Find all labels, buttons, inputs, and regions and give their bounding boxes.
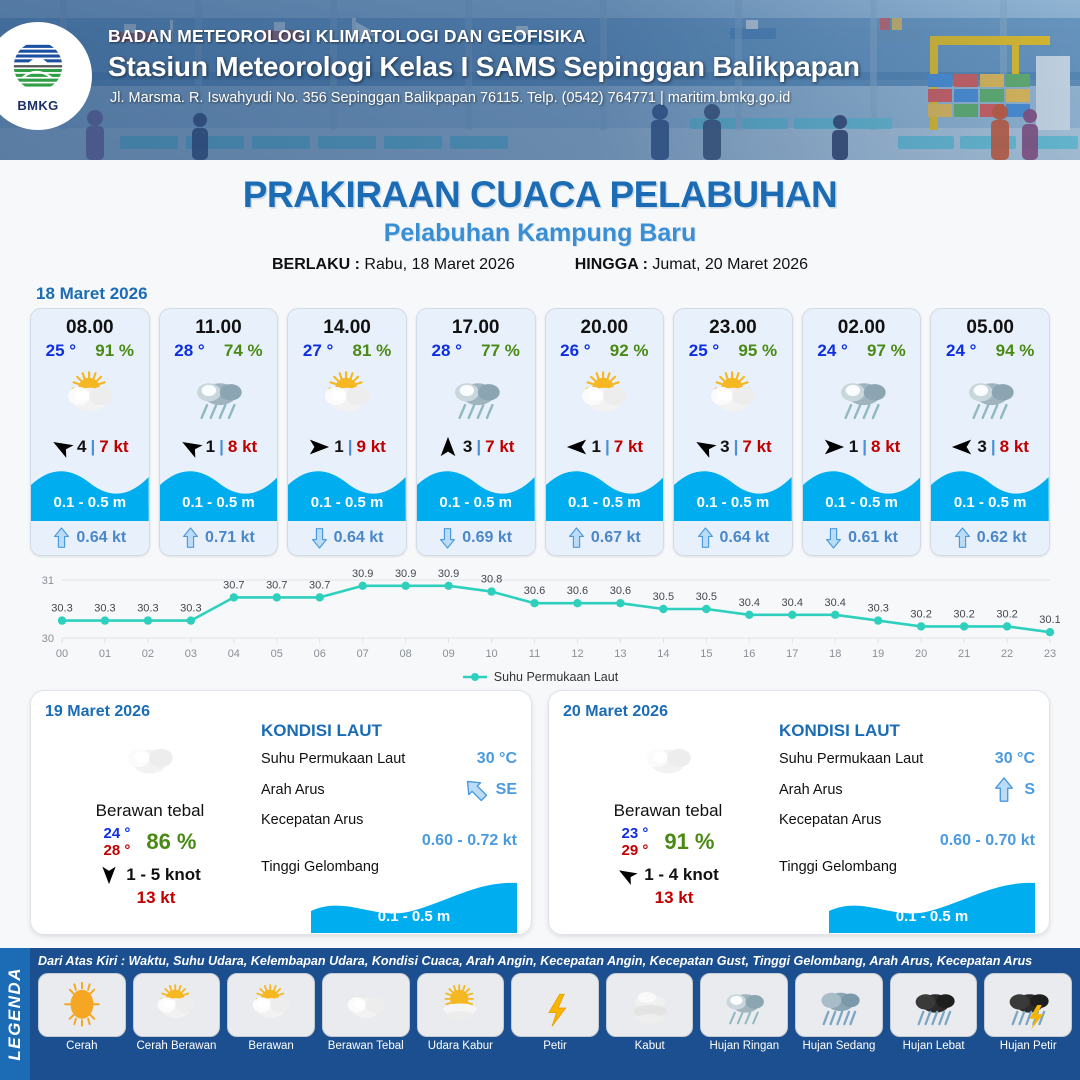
card-wind-speed: 1 [206,437,215,457]
card-temp-hum: 28 °77 % [417,341,535,361]
svg-text:14: 14 [657,648,669,660]
current-dir-value: SE [496,781,517,799]
current-direction-arrow-icon [311,527,328,549]
card-temperature: 26 ° [560,341,590,361]
sea-row-sst: Suhu Permukaan Laut30 °C [779,750,1035,768]
legend-hujan-sedang-icon [795,973,883,1037]
sea-row-wave: Tinggi Gelombang [261,859,517,875]
daily-temp-min: 24 ° [103,825,130,842]
daily-left: 20 Maret 2026Berawan tebal23 °29 °91 %1 … [563,703,773,922]
svg-text:18: 18 [829,648,841,660]
legend-item: Udara Kabur [417,973,505,1052]
card-gust-speed: 7 kt [485,437,514,457]
legend-item-label: Berawan [248,1040,293,1052]
svg-text:30.4: 30.4 [782,597,803,609]
sea-row-current-dir: Arah ArusSE [261,777,517,803]
hingga-value: Jumat, 20 Maret 2026 [652,256,808,273]
legend-item-label: Hujan Lebat [903,1040,965,1052]
card-weather-cerah-berawan-icon [288,363,406,429]
card-wind-speed: 3 [977,437,986,457]
card-current-row: 0.64 kt [31,521,149,555]
wave-label: Tinggi Gelombang [261,859,379,875]
card-temp-hum: 25 °91 % [31,341,149,361]
card-weather-hujan-ringan-icon [931,363,1049,429]
sst-label: Suhu Permukaan Laut [779,751,923,767]
daily-forecast-panels: 19 Maret 2026Berawan tebal24 °28 °86 %1 … [0,684,1080,935]
card-wave-height: 0.1 - 0.5 m [931,494,1049,511]
daily-wind-range: 1 - 4 knot [644,865,719,885]
card-wind-row: 1|9 kt [288,431,406,463]
svg-text:30.9: 30.9 [438,568,459,580]
svg-text:05: 05 [271,648,283,660]
card-wind-row: 3|8 kt [931,431,1049,463]
daily-gust: 13 kt [57,888,255,908]
daily-temp-range: 24 °28 ° [103,825,130,859]
card-wind-speed: 3 [463,437,472,457]
svg-text:30.2: 30.2 [953,608,974,620]
svg-text:12: 12 [571,648,583,660]
card-gust-speed: 8 kt [871,437,900,457]
sea-row-current-dir: Arah ArusS [779,777,1035,803]
card-temperature: 25 ° [689,341,719,361]
legend-hujan-ringan-icon [700,973,788,1037]
current-direction-arrow-icon [825,527,842,549]
card-time: 05.00 [931,317,1049,339]
card-temperature: 24 ° [946,341,976,361]
card-gust-speed: 7 kt [99,437,128,457]
card-humidity: 91 % [95,341,134,361]
card-weather-berawan-icon [674,363,792,429]
legend-bar: LEGENDA Dari Atas Kiri : Waktu, Suhu Uda… [0,948,1080,1080]
legend-udara-kabur-icon [417,973,505,1037]
sea-row-current-speed: Kecepatan Arus [261,812,517,828]
bmkg-logo-mark [9,39,67,97]
card-wind-row: 4|7 kt [31,431,149,463]
daily-wave-height: 0.1 - 0.5 m [829,908,1035,925]
card-humidity: 92 % [610,341,649,361]
svg-text:21: 21 [958,648,970,660]
legend-item: Berawan [227,973,315,1052]
card-temperature: 24 ° [817,341,847,361]
current-speed-value: 0.60 - 0.72 kt [261,832,517,850]
card-wind-row: 3|7 kt [417,431,535,463]
card-temp-hum: 24 °97 % [803,341,921,361]
station-name: Stasiun Meteorologi Kelas I SAMS Sepingg… [108,51,860,83]
wind-direction-arrow-icon [308,436,330,458]
legend-item-label: Kabut [635,1040,665,1052]
card-current-row: 0.61 kt [803,521,921,555]
card-wave-block: 0.1 - 0.5 m [417,463,535,521]
svg-text:30.9: 30.9 [395,568,416,580]
wind-direction-arrow-icon [99,865,119,885]
daily-date: 20 Maret 2026 [563,703,773,721]
hourly-card: 11.0028 °74 %1|8 kt0.1 - 0.5 m0.71 kt [159,308,279,556]
svg-text:30.5: 30.5 [653,591,674,603]
legend-item-label: Petir [543,1040,567,1052]
card-temperature: 28 ° [431,341,461,361]
card-humidity: 77 % [481,341,520,361]
svg-text:04: 04 [228,648,240,660]
card-time: 20.00 [546,317,664,339]
daily-temp-max: 29 ° [621,842,648,859]
sst-value: 30 °C [477,750,517,768]
wind-direction-arrow-icon [617,865,637,885]
card-time: 02.00 [803,317,921,339]
legend-cerah-berawan-icon [133,973,221,1037]
daily-condition-text: Berawan tebal [45,801,255,821]
legend-berawan-icon [227,973,315,1037]
card-weather-berawan-icon [31,363,149,429]
chart-legend-swatch [462,671,488,683]
current-direction-arrow-icon [954,527,971,549]
hourly-forecast-cards: 08.0025 °91 %4|7 kt0.1 - 0.5 m0.64 kt11.… [0,308,1080,556]
svg-text:23: 23 [1044,648,1056,660]
current-direction-arrow-icon [439,527,456,549]
chart-legend: Suhu Permukaan Laut [0,670,1080,684]
sst-chart: 3031000102030405060708091011121314151617… [20,568,1060,668]
card-gust-speed: 8 kt [228,437,257,457]
daily-wave-block: 0.1 - 0.5 m [311,881,517,933]
current-direction-arrow-icon [465,777,491,803]
chart-legend-label: Suhu Permukaan Laut [494,670,618,684]
card-current-speed: 0.71 kt [205,529,255,547]
legend-tab: LEGENDA [0,948,30,1080]
card-wind-row: 1|8 kt [160,431,278,463]
card-temp-hum: 25 °95 % [674,341,792,361]
wind-direction-arrow-icon [180,436,202,458]
hingga-label: HINGGA : [575,256,648,273]
card-wind-row: 1|8 kt [803,431,921,463]
hourly-card: 02.0024 °97 %1|8 kt0.1 - 0.5 m0.61 kt [802,308,922,556]
card-current-speed: 0.67 kt [591,529,641,547]
daily-wave-height: 0.1 - 0.5 m [311,908,517,925]
hourly-card: 05.0024 °94 %3|8 kt0.1 - 0.5 m0.62 kt [930,308,1050,556]
card-wind-separator: | [862,437,867,457]
daily-weather-berawan-tebal-icon [45,725,255,791]
daily-wind-row: 1 - 5 knot [45,865,255,885]
svg-text:16: 16 [743,648,755,660]
card-gust-speed: 8 kt [1000,437,1029,457]
svg-text:30.1: 30.1 [1039,614,1060,626]
card-gust-speed: 9 kt [357,437,386,457]
card-current-speed: 0.69 kt [462,529,512,547]
current-direction-arrow-icon [697,527,714,549]
card-current-row: 0.64 kt [288,521,406,555]
legend-item: Hujan Lebat [890,973,978,1052]
hourly-card: 20.0026 °92 %1|7 kt0.1 - 0.5 m0.67 kt [545,308,665,556]
svg-text:30.6: 30.6 [610,585,631,597]
wind-direction-arrow-icon [566,436,588,458]
daily-temp-hum: 23 °29 °91 % [563,825,773,859]
svg-text:30.8: 30.8 [481,574,502,586]
title-block: PRAKIRAAN CUACA PELABUHAN Pelabuhan Kamp… [0,160,1080,274]
legend-cerah-icon [38,973,126,1037]
legend-note: Dari Atas Kiri : Waktu, Suhu Udara, Kele… [38,954,1072,968]
current-direction-arrow-icon [53,527,70,549]
daily-temp-min: 23 ° [621,825,648,842]
card-current-row: 0.71 kt [160,521,278,555]
legend-item-label: Hujan Sedang [802,1040,875,1052]
svg-text:30: 30 [42,633,54,645]
card-wind-speed: 1 [334,437,343,457]
card-gust-speed: 7 kt [742,437,771,457]
legend-item-label: Cerah [66,1040,97,1052]
card-wind-row: 1|7 kt [546,431,664,463]
page-header: BMKG BADAN METEOROLOGI KLIMATOLOGI DAN G… [0,0,1080,160]
current-dir-label: Arah Arus [261,782,325,798]
legend-kabut-icon [606,973,694,1037]
card-time: 14.00 [288,317,406,339]
svg-text:01: 01 [99,648,111,660]
svg-text:30.3: 30.3 [94,603,115,615]
card-wind-separator: | [219,437,224,457]
daily-right: KONDISI LAUTSuhu Permukaan Laut30 °CArah… [255,703,517,922]
card-wave-block: 0.1 - 0.5 m [288,463,406,521]
card-gust-speed: 7 kt [614,437,643,457]
wind-direction-arrow-icon [437,436,459,458]
card-wave-block: 0.1 - 0.5 m [931,463,1049,521]
daily-date: 19 Maret 2026 [45,703,255,721]
daily-panel: 20 Maret 2026Berawan tebal23 °29 °91 %1 … [548,690,1050,935]
svg-text:06: 06 [314,648,326,660]
current-dir-value-wrap: S [993,777,1035,803]
card-current-row: 0.67 kt [546,521,664,555]
legend-item-label: Udara Kabur [428,1040,493,1052]
card-wave-block: 0.1 - 0.5 m [803,463,921,521]
card-temperature: 28 ° [174,341,204,361]
current-dir-value-wrap: SE [465,777,517,803]
svg-text:31: 31 [42,575,54,587]
svg-text:30.3: 30.3 [867,603,888,615]
legend-item: Hujan Ringan [700,973,788,1052]
svg-text:30.4: 30.4 [739,597,760,609]
hourly-date-label: 18 Maret 2026 [36,284,1080,304]
berlaku-value: Rabu, 18 Maret 2026 [364,256,514,273]
sst-label: Suhu Permukaan Laut [261,751,405,767]
svg-text:30.7: 30.7 [266,579,287,591]
card-wave-block: 0.1 - 0.5 m [160,463,278,521]
legend-item: Hujan Sedang [795,973,883,1052]
legend-item: Cerah [38,973,126,1052]
card-time: 08.00 [31,317,149,339]
wind-direction-arrow-icon [823,436,845,458]
card-weather-berawan-icon [546,363,664,429]
legend-hujan-petir-icon [984,973,1072,1037]
legend-hujan-lebat-icon [890,973,978,1037]
daily-humidity: 86 % [146,829,196,855]
svg-text:30.2: 30.2 [910,608,931,620]
legend-petir-icon [511,973,599,1037]
legend-item: Cerah Berawan [133,973,221,1052]
station-address: Jl. Marsma. R. Iswahyudi No. 356 Sepingg… [110,90,860,106]
sst-value: 30 °C [995,750,1035,768]
sea-row-current-speed: Kecepatan Arus [779,812,1035,828]
card-wave-height: 0.1 - 0.5 m [31,494,149,511]
card-wave-height: 0.1 - 0.5 m [803,494,921,511]
card-wind-separator: | [348,437,353,457]
card-wave-height: 0.1 - 0.5 m [417,494,535,511]
legend-body: Dari Atas Kiri : Waktu, Suhu Udara, Kele… [30,948,1080,1080]
card-current-row: 0.64 kt [674,521,792,555]
card-wind-speed: 4 [77,437,86,457]
svg-text:30.2: 30.2 [996,608,1017,620]
card-wave-height: 0.1 - 0.5 m [288,494,406,511]
card-wind-speed: 1 [849,437,858,457]
current-speed-label: Kecepatan Arus [261,812,363,828]
card-humidity: 97 % [867,341,906,361]
card-wind-separator: | [991,437,996,457]
wave-label: Tinggi Gelombang [779,859,897,875]
hourly-card: 14.0027 °81 %1|9 kt0.1 - 0.5 m0.64 kt [287,308,407,556]
card-wind-row: 3|7 kt [674,431,792,463]
validity-row: BERLAKU : Rabu, 18 Maret 2026 HINGGA : J… [0,256,1080,274]
hourly-card: 23.0025 °95 %3|7 kt0.1 - 0.5 m0.64 kt [673,308,793,556]
hourly-card: 08.0025 °91 %4|7 kt0.1 - 0.5 m0.64 kt [30,308,150,556]
svg-text:30.6: 30.6 [524,585,545,597]
current-speed-value: 0.60 - 0.70 kt [779,832,1035,850]
card-temp-hum: 24 °94 % [931,341,1049,361]
svg-text:30.6: 30.6 [567,585,588,597]
svg-text:17: 17 [786,648,798,660]
card-wave-block: 0.1 - 0.5 m [674,463,792,521]
card-temperature: 27 ° [303,341,333,361]
svg-text:15: 15 [700,648,712,660]
legend-item: Berawan Tebal [322,973,410,1052]
page-subtitle: Pelabuhan Kampung Baru [0,219,1080,248]
card-current-row: 0.69 kt [417,521,535,555]
header-text-block: BADAN METEOROLOGI KLIMATOLOGI DAN GEOFIS… [108,26,860,106]
wind-direction-arrow-icon [51,436,73,458]
daily-panel: 19 Maret 2026Berawan tebal24 °28 °86 %1 … [30,690,532,935]
berlaku-label: BERLAKU : [272,256,360,273]
svg-text:30.9: 30.9 [352,568,373,580]
card-weather-hujan-ringan-icon [803,363,921,429]
daily-temp-range: 23 °29 ° [621,825,648,859]
card-weather-hujan-ringan-icon [417,363,535,429]
card-humidity: 74 % [224,341,263,361]
svg-text:09: 09 [442,648,454,660]
legend-item: Hujan Petir [984,973,1072,1052]
sea-condition-title: KONDISI LAUT [261,721,517,741]
card-wave-block: 0.1 - 0.5 m [546,463,664,521]
card-current-row: 0.62 kt [931,521,1049,555]
card-current-speed: 0.64 kt [334,529,384,547]
daily-weather-berawan-tebal-icon [563,725,773,791]
svg-text:19: 19 [872,648,884,660]
hingga: HINGGA : Jumat, 20 Maret 2026 [575,256,808,274]
svg-text:08: 08 [400,648,412,660]
card-time: 17.00 [417,317,535,339]
svg-text:00: 00 [56,648,68,660]
card-wave-height: 0.1 - 0.5 m [674,494,792,511]
sea-condition-title: KONDISI LAUT [779,721,1035,741]
card-current-speed: 0.64 kt [720,529,770,547]
svg-text:11: 11 [529,648,540,660]
wind-direction-arrow-icon [951,436,973,458]
legend-item: Petir [511,973,599,1052]
card-wind-separator: | [91,437,96,457]
card-wind-separator: | [605,437,610,457]
card-wave-block: 0.1 - 0.5 m [31,463,149,521]
card-humidity: 95 % [738,341,777,361]
current-direction-arrow-icon [182,527,199,549]
wind-direction-arrow-icon [694,436,716,458]
agency-name: BADAN METEOROLOGI KLIMATOLOGI DAN GEOFIS… [108,26,860,47]
svg-text:30.5: 30.5 [696,591,717,603]
current-direction-arrow-icon [993,777,1019,803]
card-wind-speed: 3 [720,437,729,457]
page-title: PRAKIRAAN CUACA PELABUHAN [0,174,1080,216]
daily-humidity: 91 % [664,829,714,855]
card-current-speed: 0.64 kt [76,529,126,547]
card-weather-hujan-ringan-icon [160,363,278,429]
daily-wind-row: 1 - 4 knot [563,865,773,885]
svg-text:30.7: 30.7 [223,579,244,591]
card-current-speed: 0.62 kt [977,529,1027,547]
bmkg-logo-text: BMKG [17,98,58,113]
daily-temp-max: 28 ° [103,842,130,859]
svg-text:03: 03 [185,648,197,660]
card-time: 23.00 [674,317,792,339]
card-humidity: 81 % [353,341,392,361]
sea-row-sst: Suhu Permukaan Laut30 °C [261,750,517,768]
card-wind-separator: | [476,437,481,457]
sea-row-wave: Tinggi Gelombang [779,859,1035,875]
svg-text:22: 22 [1001,648,1013,660]
svg-text:30.7: 30.7 [309,579,330,591]
svg-text:30.3: 30.3 [180,603,201,615]
daily-temp-hum: 24 °28 °86 % [45,825,255,859]
legend-item-label: Hujan Ringan [709,1040,779,1052]
daily-condition-text: Berawan tebal [563,801,773,821]
current-dir-label: Arah Arus [779,782,843,798]
daily-wave-block: 0.1 - 0.5 m [829,881,1035,933]
svg-text:07: 07 [357,648,369,660]
legend-berawan-tebal-icon [322,973,410,1037]
svg-text:10: 10 [485,648,497,660]
legend-items: CerahCerah BerawanBerawanBerawan TebalUd… [38,973,1072,1052]
current-speed-label: Kecepatan Arus [779,812,881,828]
hourly-card: 17.0028 °77 %3|7 kt0.1 - 0.5 m0.69 kt [416,308,536,556]
legend-tab-label: LEGENDA [5,967,25,1061]
legend-item-label: Hujan Petir [1000,1040,1057,1052]
berlaku: BERLAKU : Rabu, 18 Maret 2026 [272,256,515,274]
svg-text:20: 20 [915,648,927,660]
daily-right: KONDISI LAUTSuhu Permukaan Laut30 °CArah… [773,703,1035,922]
svg-text:13: 13 [614,648,626,660]
svg-text:02: 02 [142,648,154,660]
card-wind-separator: | [734,437,739,457]
card-current-speed: 0.61 kt [848,529,898,547]
svg-text:30.4: 30.4 [825,597,846,609]
card-wave-height: 0.1 - 0.5 m [546,494,664,511]
card-temp-hum: 27 °81 % [288,341,406,361]
current-direction-arrow-icon [568,527,585,549]
legend-item: Kabut [606,973,694,1052]
daily-left: 19 Maret 2026Berawan tebal24 °28 °86 %1 … [45,703,255,922]
current-dir-value: S [1024,781,1035,799]
svg-text:30.3: 30.3 [51,603,72,615]
card-temp-hum: 26 °92 % [546,341,664,361]
legend-item-label: Berawan Tebal [328,1040,404,1052]
card-temp-hum: 28 °74 % [160,341,278,361]
card-temperature: 25 ° [46,341,76,361]
daily-wind-range: 1 - 5 knot [126,865,201,885]
card-wave-height: 0.1 - 0.5 m [160,494,278,511]
legend-item-label: Cerah Berawan [137,1040,217,1052]
card-wind-speed: 1 [592,437,601,457]
card-time: 11.00 [160,317,278,339]
